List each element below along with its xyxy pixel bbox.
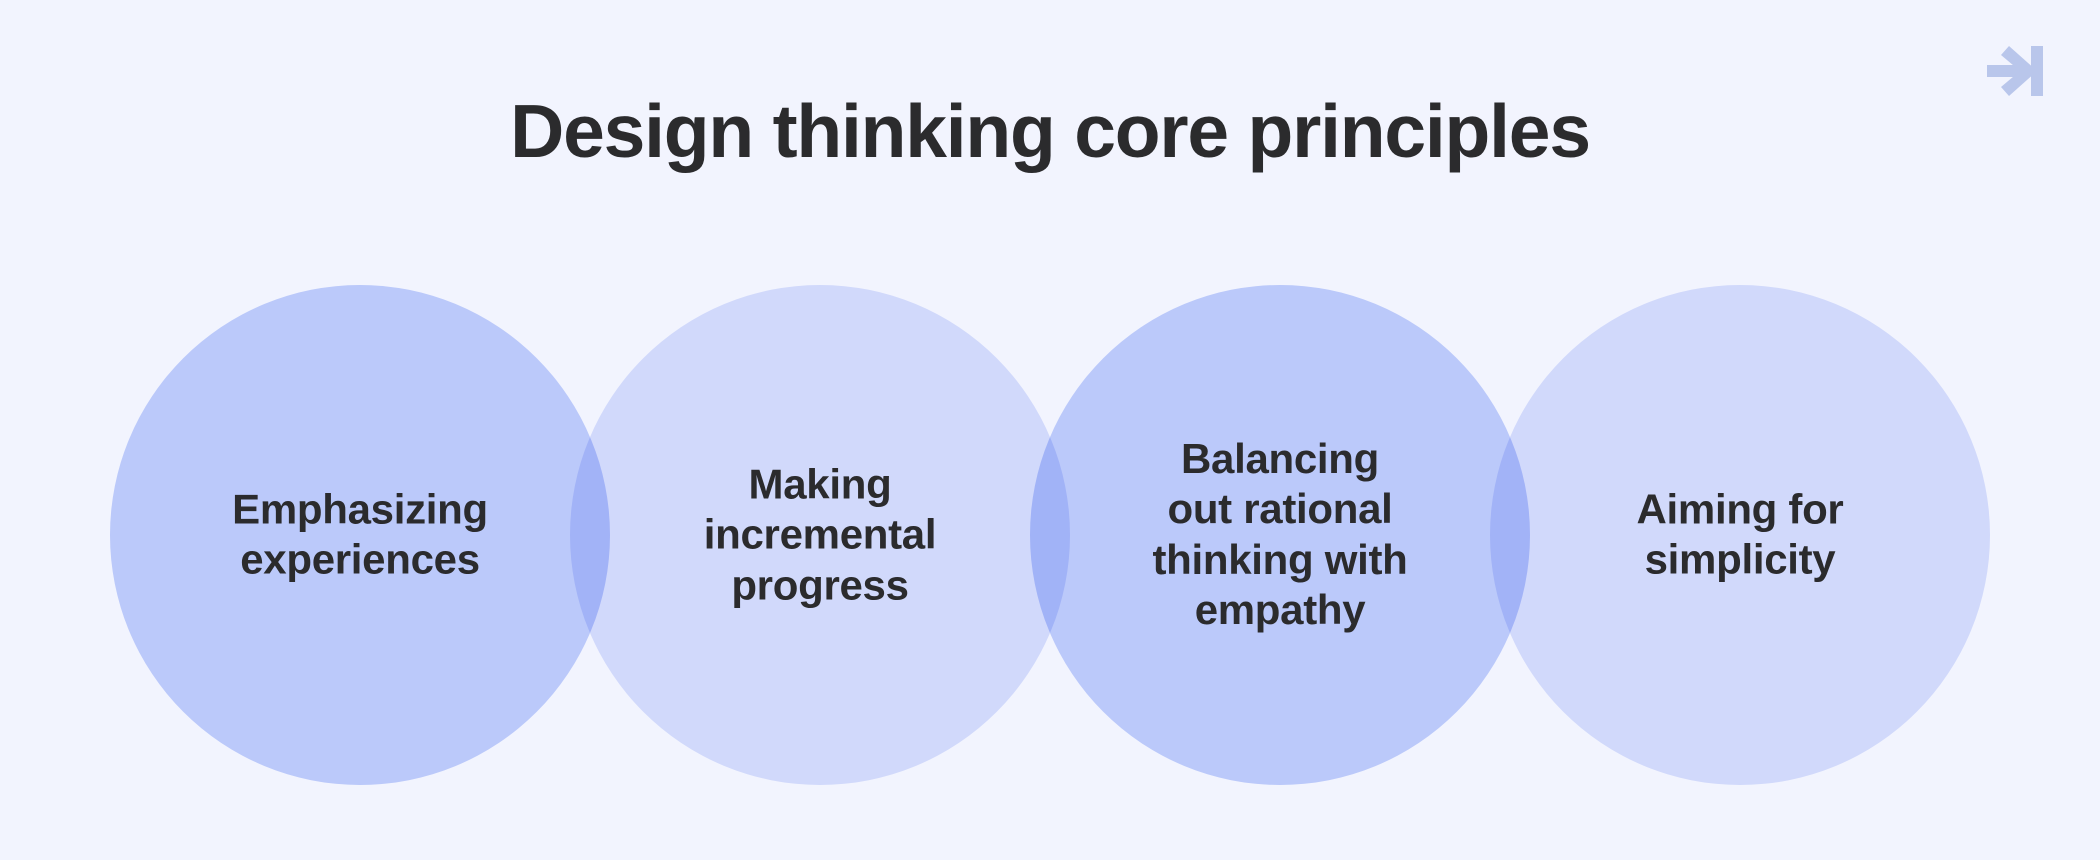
circle-label-4: Aiming for simplicity <box>1590 485 1890 586</box>
circle-label-2-line-1: Making <box>655 459 985 509</box>
circle-label-3-line-4: empathy <box>1115 585 1445 635</box>
circle-label-1-line-1: Emphasizing <box>195 485 525 535</box>
circle-label-3: Balancing out rational thinking with emp… <box>1115 434 1445 636</box>
circle-label-2-line-2: incremental <box>655 510 985 560</box>
circle-label-4-line-2: simplicity <box>1590 535 1890 585</box>
slide-canvas: Design thinking core principles Emphasiz… <box>0 0 2100 860</box>
circle-label-4-line-1: Aiming for <box>1590 485 1890 535</box>
circle-item-2[interactable]: Making incremental progress <box>570 285 1070 785</box>
circle-label-1-line-2: experiences <box>195 535 525 585</box>
circle-label-2: Making incremental progress <box>655 459 985 610</box>
circle-label-3-line-1: Balancing <box>1115 434 1445 484</box>
circle-label-2-line-3: progress <box>655 560 985 610</box>
circle-label-3-line-2: out rational <box>1115 485 1445 535</box>
circle-item-4[interactable]: Aiming for simplicity <box>1490 285 1990 785</box>
circle-item-3[interactable]: Balancing out rational thinking with emp… <box>1030 285 1530 785</box>
circle-item-1[interactable]: Emphasizing experiences <box>110 285 610 785</box>
circle-diagram: Emphasizing experiences Making increment… <box>0 0 2100 860</box>
circle-label-1: Emphasizing experiences <box>195 485 525 586</box>
circle-label-3-line-3: thinking with <box>1115 535 1445 585</box>
